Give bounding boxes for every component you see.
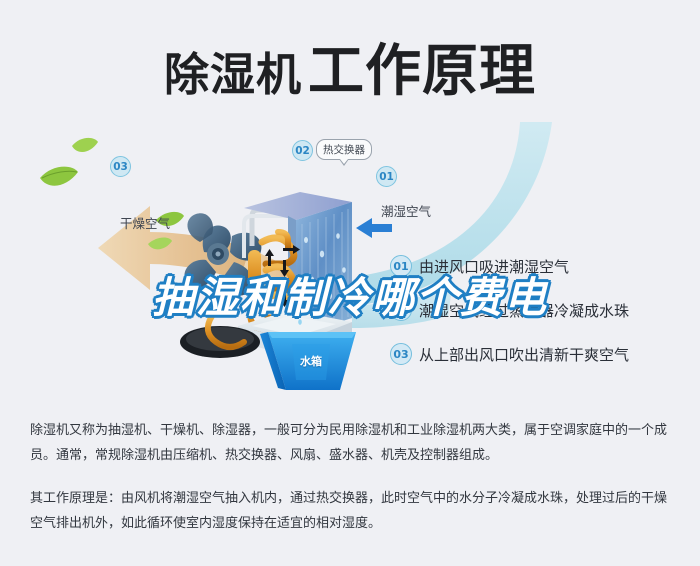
callout-heat-exchanger: 热交换器 xyxy=(316,139,372,160)
steps-list: 01 由进风口吸进潮湿空气 02 潮湿空气经过蒸发器冷凝成水珠 03 从上部出风… xyxy=(390,255,690,387)
step-badge-03: 03 xyxy=(390,343,412,365)
badge-heat-exchanger: 02 xyxy=(292,140,313,161)
step-badge-01: 01 xyxy=(390,255,412,277)
label-heat-exchanger: 热交换器 xyxy=(323,144,365,156)
step-text-02: 潮湿空气经过蒸发器冷凝成水珠 xyxy=(419,300,629,321)
list-item: 01 由进风口吸进潮湿空气 xyxy=(390,255,690,277)
page-title-main: 工作原理 xyxy=(308,39,536,104)
intake-arrow xyxy=(356,218,392,238)
label-water-tank: 水箱 xyxy=(300,353,322,369)
page-title-lead: 除湿机 xyxy=(164,48,302,101)
label-humid-air: 潮湿空气 xyxy=(381,201,431,220)
badge-dry-air: 03 xyxy=(110,156,131,177)
label-dry-air: 干燥空气 xyxy=(120,213,170,232)
step-text-03: 从上部出风口吹出清新干爽空气 xyxy=(419,344,629,365)
page-title: 除湿机工作原理 xyxy=(0,26,700,107)
body-paragraph-1: 除湿机又称为抽湿机、干燥机、除湿器，一般可分为民用除湿机和工业除湿机两大类，属于… xyxy=(30,418,675,468)
step-badge-02: 02 xyxy=(390,299,412,321)
badge-humid-air: 01 xyxy=(376,166,397,187)
callout-tail-fill xyxy=(340,159,348,164)
step-text-01: 由进风口吸进潮湿空气 xyxy=(419,256,569,277)
body-paragraph-2: 其工作原理是：由风机将潮湿空气抽入机内，通过热交换器，此时空气中的水分子冷凝成水… xyxy=(30,486,675,536)
infographic-page: 除湿机工作原理 xyxy=(0,0,700,566)
list-item: 03 从上部出风口吹出清新干爽空气 xyxy=(390,343,690,365)
body-copy: 除湿机又称为抽湿机、干燥机、除湿器，一般可分为民用除湿机和工业除湿机两大类，属于… xyxy=(30,418,675,554)
list-item: 02 潮湿空气经过蒸发器冷凝成水珠 xyxy=(390,299,690,321)
